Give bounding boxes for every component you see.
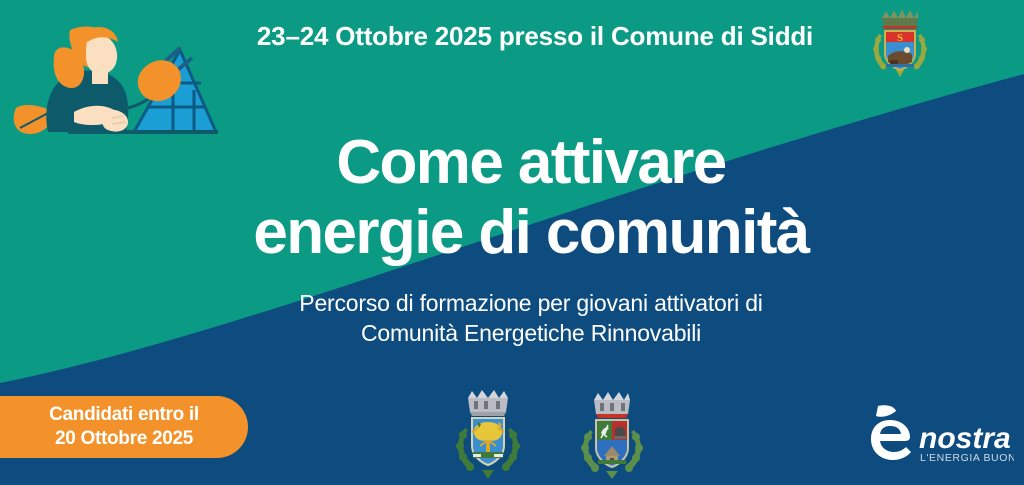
subtitle-line-1: Percorso di formazione per giovani attiv…: [38, 288, 1024, 318]
crown-shape: [468, 390, 508, 416]
shield-letter-s: S: [897, 32, 903, 44]
deadline-line-2: 20 Ottobre 2025: [55, 427, 193, 451]
banner-title: Come attivare energie di comunità: [0, 128, 1024, 268]
title-line-2: energie di comunità: [38, 198, 1024, 268]
event-banner: 23–24 Ottobre 2025 presso il Comune di S…: [0, 0, 1024, 485]
crown-shape: [594, 392, 630, 418]
comune-coat-of-arms-quartered-icon: [570, 388, 654, 480]
subtitle-line-2: Comunità Energetiche Rinnovabili: [38, 318, 1024, 348]
logo-wordmark: nostra: [919, 422, 1011, 455]
title-line-1: Come attivare: [38, 128, 1024, 198]
deadline-line-1: Candidati entro il: [49, 403, 199, 427]
enostra-logo[interactable]: nostra L'ENERGIA BUONA: [868, 404, 1014, 466]
application-deadline-badge[interactable]: Candidati entro il 20 Ottobre 2025: [0, 396, 248, 458]
logo-accent-mark: [876, 405, 896, 417]
banner-subtitle: Percorso di formazione per giovani attiv…: [0, 288, 1024, 348]
logo-e-glyph: [871, 420, 911, 460]
crown-shape: [882, 9, 918, 29]
logo-tagline: L'ENERGIA BUONA: [920, 452, 1014, 464]
siddi-coat-of-arms-icon: S: [866, 4, 934, 78]
comune-coat-of-arms-tree-icon: [446, 388, 530, 480]
